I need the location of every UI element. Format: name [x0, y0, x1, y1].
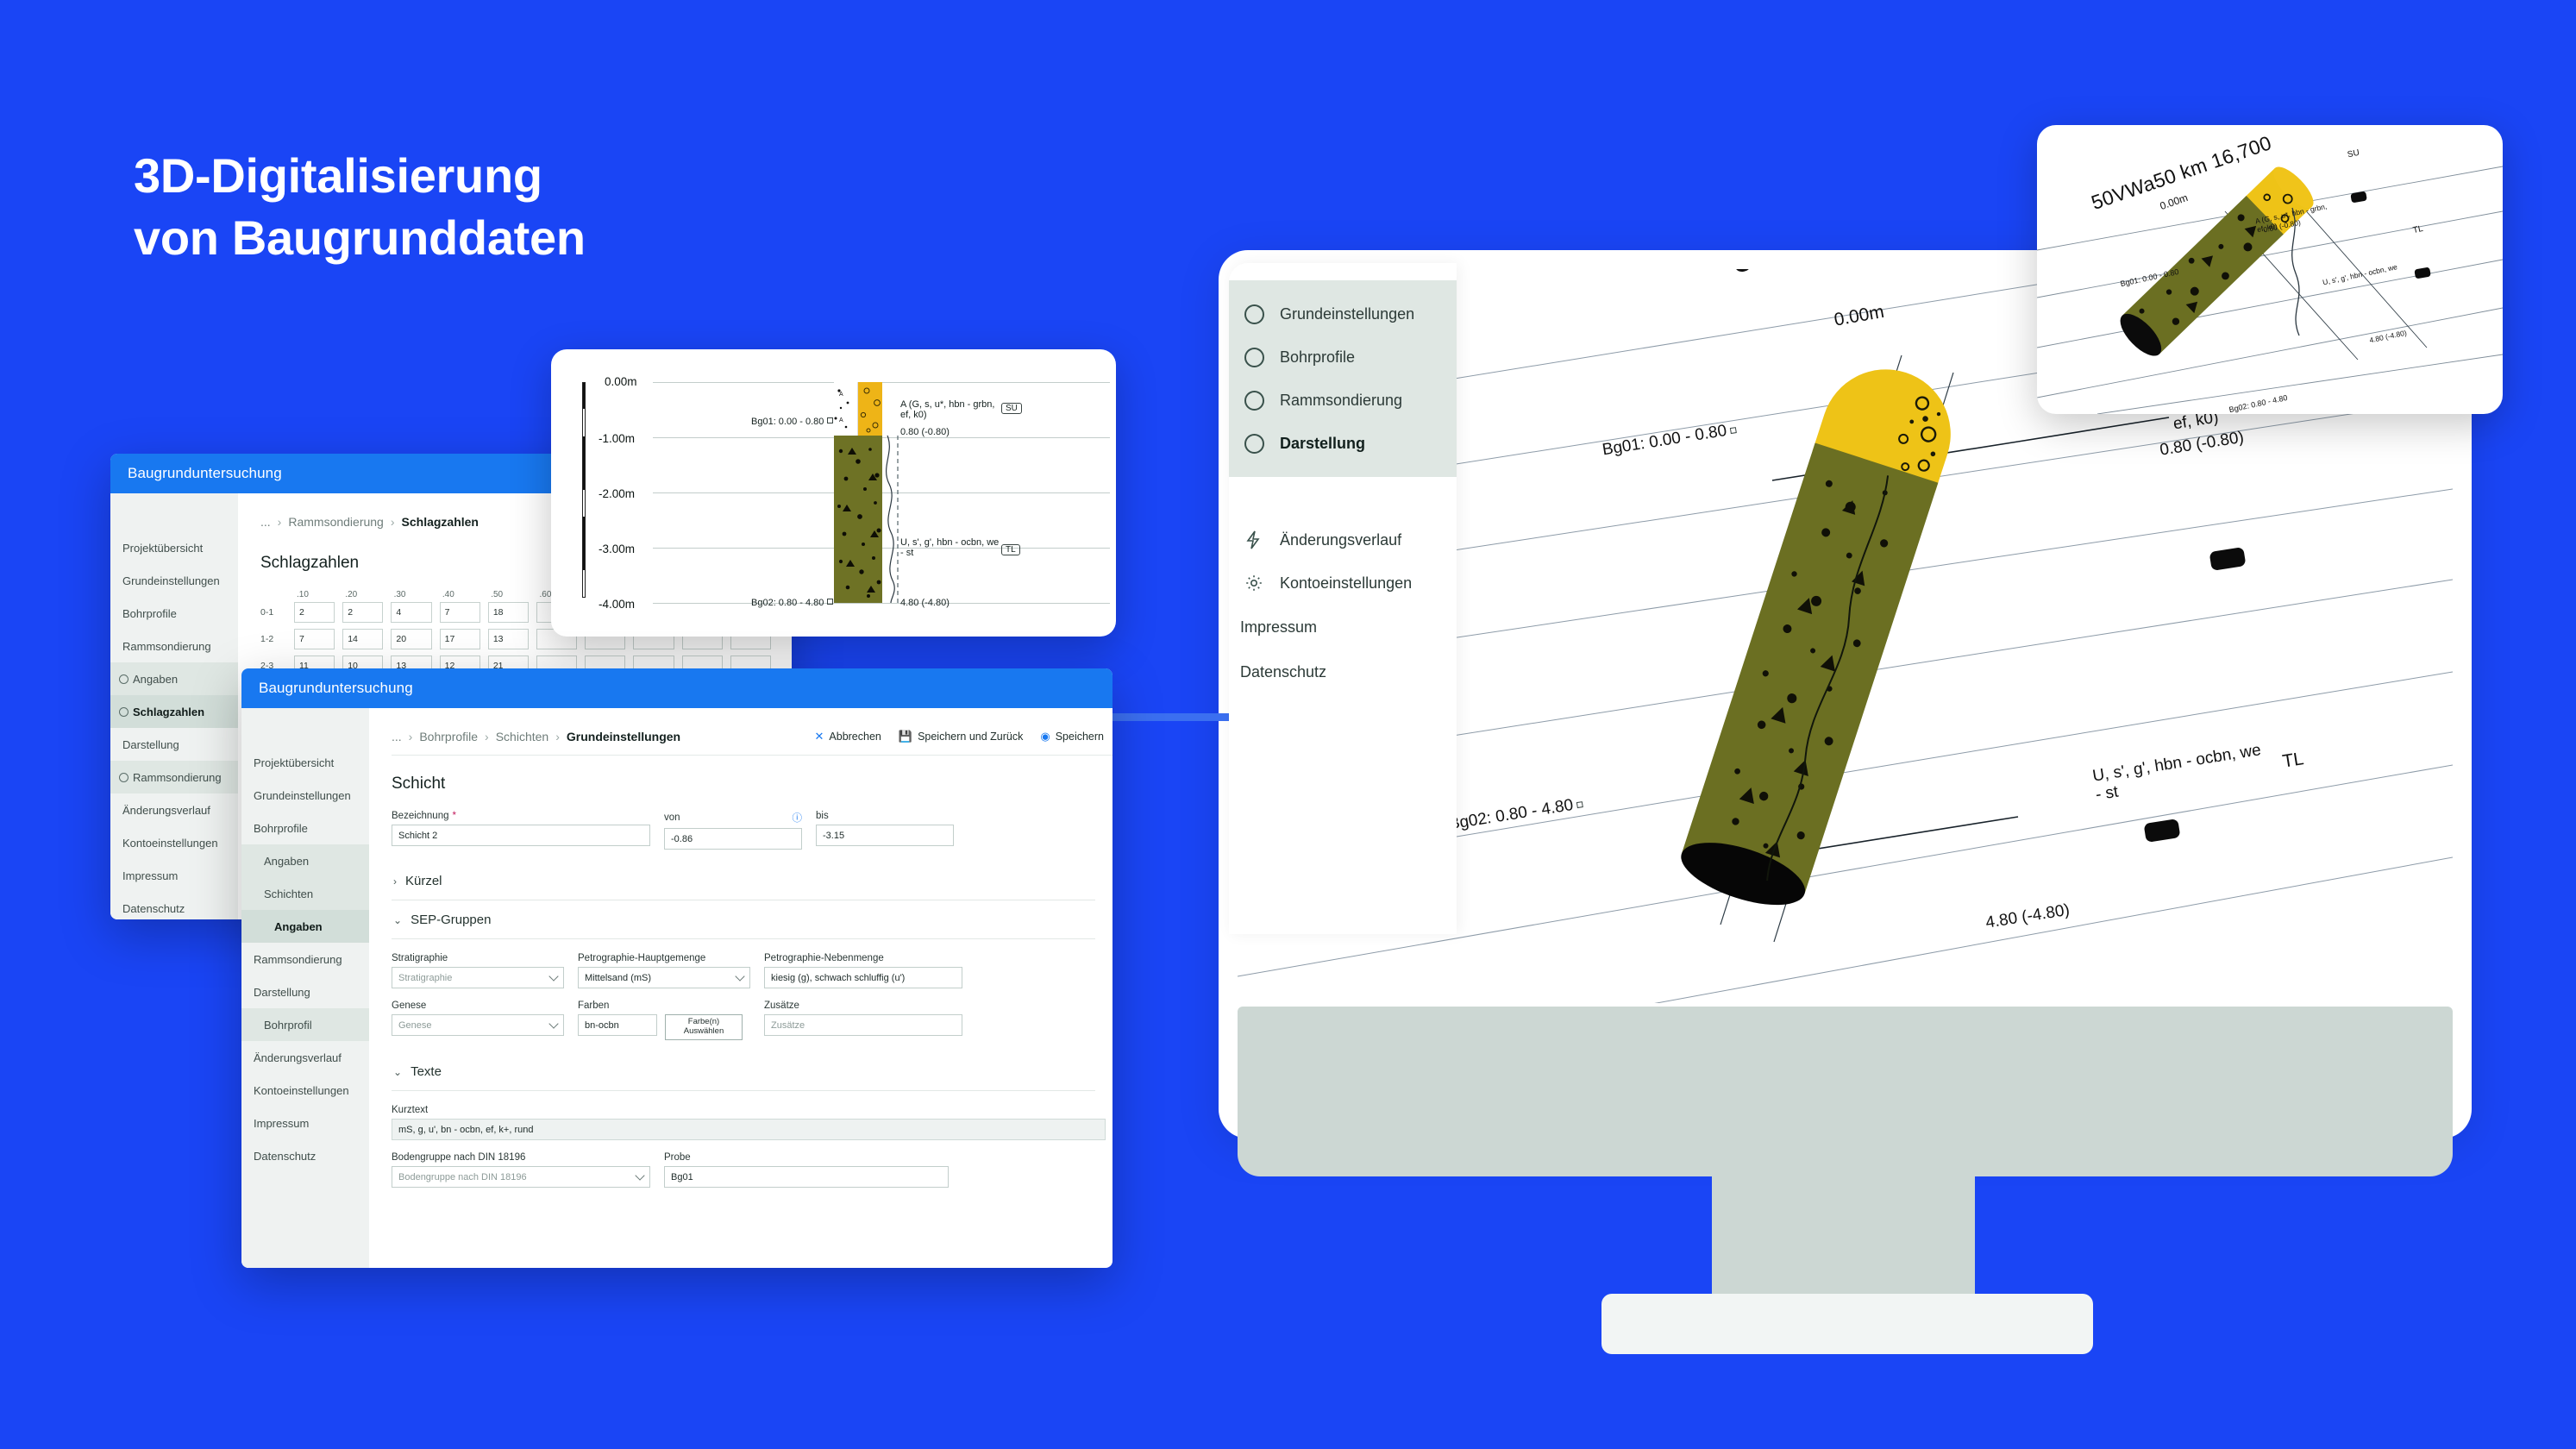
sidebar-item-projektuebersicht[interactable]: Projektübersicht [241, 746, 369, 779]
group-kuerzel[interactable]: › Kürzel [392, 862, 1095, 900]
label-farben: Farben [578, 1000, 750, 1011]
sidebar-item-datenschutz[interactable]: Datenschutz [110, 892, 238, 919]
log-layer-1-code: SU [1001, 403, 1022, 414]
chevron-down-icon: ⌄ [393, 1066, 402, 1078]
gear-icon [1240, 569, 1268, 597]
depth-ruler [582, 382, 586, 598]
col-header: .30 [391, 590, 431, 599]
group-kuerzel-label: Kürzel [405, 874, 442, 888]
menu-item-label: Kontoeinstellungen [1280, 574, 1412, 593]
borehole-log-card[interactable]: 0.00m -1.00m -2.00m -3.00m -4.00m -5.00m… [551, 349, 1116, 637]
required-marker: * [453, 811, 456, 821]
strat-column-fill-lower [834, 436, 882, 603]
toolbar-actions: ✕ Abbrechen 💾 Speichern und Zurück ◉ Spe… [815, 730, 1105, 743]
cell-input[interactable]: 7 [440, 602, 480, 623]
log-layer-2-depth: 4.80 (-4.80) [900, 598, 950, 608]
divider [392, 755, 1113, 756]
depth-label: -3.00m [599, 543, 635, 555]
stratigraphie-select[interactable]: Stratigraphie [392, 967, 564, 988]
sidebar-item-projektuebersicht[interactable]: Projektübersicht [110, 531, 238, 564]
sidebar-item-aenderungsverlauf[interactable]: Änderungsverlauf [110, 793, 238, 826]
bullet-icon [119, 674, 128, 684]
group-sep-label: SEP-Gruppen [411, 913, 491, 927]
cell-input[interactable]: 20 [391, 629, 431, 649]
window-titlebar: Baugrunduntersuchung [241, 668, 1113, 708]
breadcrumb-sep: › [409, 730, 413, 743]
col-header: .20 [342, 590, 382, 599]
cell-input[interactable]: 4 [391, 602, 431, 623]
col-header: .50 [487, 590, 528, 599]
bezeichnung-input[interactable]: Schicht 2 [392, 825, 650, 846]
cell-input[interactable]: 13 [488, 629, 529, 649]
sidebar-item-darstellung-rammsondierung[interactable]: Rammsondierung [110, 761, 238, 793]
log-layer-2-text: U, s', g', hbn - ocbn, we - st [900, 537, 1064, 558]
sidebar-item-angaben[interactable]: Angaben [241, 844, 369, 877]
ruler-segment [583, 517, 585, 570]
sidebar-item-schichten[interactable]: Schichten [241, 877, 369, 910]
circle-icon [1240, 343, 1268, 371]
cell-input[interactable]: 14 [342, 629, 383, 649]
cell-input[interactable]: 7 [294, 629, 335, 649]
sidebar-item-impressum[interactable]: Impressum [110, 859, 238, 892]
scene-layer-2-code: TL [2281, 749, 2305, 773]
log-layer-1-text: A (G, s, u*, hbn - grbn, ef, k0) [900, 399, 1056, 420]
group-texte[interactable]: ⌄ Texte [392, 1052, 1095, 1091]
breadcrumb-bohrprofile[interactable]: Bohrprofile [419, 730, 478, 743]
log-layer-1-depth: 0.80 (-0.80) [900, 427, 950, 437]
circle-icon [1240, 300, 1268, 328]
grid-line [653, 603, 1110, 604]
bodengruppe-select[interactable]: Bodengruppe nach DIN 18196 [392, 1166, 650, 1188]
depth-label: 0.00m [605, 375, 637, 388]
sidebar-item-darstellung[interactable]: Darstellung [241, 975, 369, 1008]
sidebar-item-kontoeinstellungen[interactable]: Kontoeinstellungen [110, 826, 238, 859]
breadcrumb-front: ... › Bohrprofile › Schichten › Grundein… [392, 724, 1113, 750]
ruler-segment [583, 383, 585, 409]
cancel-button[interactable]: ✕ Abbrechen [815, 730, 881, 743]
cell-input[interactable]: 2 [342, 602, 383, 623]
log-sample-bg01: Bg01: 0.00 - 0.80 [751, 417, 833, 427]
petrographie-hauptgemenge-select[interactable]: Mittelsand (mS) [578, 967, 750, 988]
breadcrumb-sep: › [278, 515, 282, 529]
menu-item-label: Bohrprofile [1280, 348, 1355, 367]
menu-link-impressum[interactable]: Impressum [1229, 605, 1457, 649]
col-header: .10 [293, 590, 334, 599]
group-texte-label: Texte [411, 1064, 442, 1079]
breadcrumb-sep: › [391, 515, 395, 529]
depth-label: -1.00m [599, 432, 635, 445]
label-bis: bis [816, 811, 954, 821]
close-icon: ✕ [815, 730, 824, 743]
circle-icon [1240, 386, 1268, 414]
cell-input[interactable]: 2 [294, 602, 335, 623]
eye-icon: ◉ [1040, 730, 1050, 743]
label-stratigraphie: Stratigraphie [392, 953, 564, 963]
breadcrumb-current: Grundeinstellungen [567, 730, 680, 743]
page-title: 3D-Digitalisierung von Baugrunddaten [134, 145, 586, 268]
genese-select[interactable]: Genese [392, 1014, 564, 1036]
monitor-base [1601, 1294, 2093, 1354]
log-sample-bg02: Bg02: 0.80 - 4.80 [751, 598, 833, 608]
breadcrumb-ellipsis[interactable]: ... [392, 730, 402, 743]
field-kurztext: Kurztext mS, g, u', bn - ocbn, ef, k+, r… [392, 1105, 1113, 1140]
section-title-schicht: Schicht [392, 775, 1113, 793]
sidebar-item-bohrprofil[interactable]: Bohrprofil [241, 1008, 369, 1041]
monitor-neck [1712, 1140, 1975, 1304]
von-input[interactable]: -0.86 [664, 828, 802, 850]
ruler-segment [583, 436, 585, 490]
label-zusaetze: Zusätze [764, 1000, 962, 1011]
menu-item-rammsondierung[interactable]: Rammsondierung [1229, 379, 1457, 422]
depth-label: -2.00m [599, 487, 635, 500]
field-row-bodengruppe: Bodengruppe nach DIN 18196 Bodengruppe n… [392, 1152, 1113, 1188]
col-header: .40 [439, 590, 479, 599]
label-bodengruppe: Bodengruppe nach DIN 18196 [392, 1152, 650, 1163]
bullet-icon [119, 773, 128, 782]
label-probe: Probe [664, 1152, 949, 1163]
chevron-down-icon: ⌄ [393, 914, 402, 926]
depth-label: -4.00m [599, 598, 635, 611]
petrographie-nebenmenge-input[interactable]: kiesig (g), schwach schluffig (u') [764, 967, 962, 988]
sidebar-item-darstellung[interactable]: Darstellung [110, 728, 238, 761]
menu-item-darstellung[interactable]: Darstellung [1229, 422, 1457, 465]
settings-menu-panel: Grundeinstellungen Bohrprofile Rammsondi… [1229, 263, 1457, 934]
sidebar-item-aenderungsverlauf[interactable]: Änderungsverlauf [241, 1041, 369, 1074]
sidebar-item-bohrprofile[interactable]: Bohrprofile [110, 597, 238, 630]
strat-column-fill-upper [858, 382, 882, 436]
menu-link-datenschutz[interactable]: Datenschutz [1229, 649, 1457, 694]
log-layer-2-code: TL [1001, 544, 1020, 555]
settings-menu-group: Grundeinstellungen Bohrprofile Rammsondi… [1229, 280, 1457, 477]
strat-column-fill-a [834, 382, 858, 436]
sidebar-item-kontoeinstellungen[interactable]: Kontoeinstellungen [241, 1074, 369, 1107]
log-sample-bg01-label: Bg01: 0.00 - 0.80 [751, 417, 824, 427]
sidebar-item-rammsondierung[interactable]: Rammsondierung [241, 943, 369, 975]
menu-item-aenderungsverlauf[interactable]: Änderungsverlauf [1229, 518, 1457, 561]
sidebar-item-schichten-angaben[interactable]: Angaben [241, 910, 369, 943]
breadcrumb-sep: › [555, 730, 560, 743]
save-icon: 💾 [899, 730, 912, 743]
menu-item-label: Änderungsverlauf [1280, 531, 1401, 549]
breadcrumb-schichten[interactable]: Schichten [496, 730, 548, 743]
log-sample-bg02-label: Bg02: 0.80 - 4.80 [751, 598, 824, 608]
menu-item-label: Rammsondierung [1280, 392, 1402, 410]
cell-input[interactable]: 18 [488, 602, 529, 623]
label-petrographie-hauptgemenge: Petrographie-Hauptgemenge [578, 953, 750, 963]
circle-icon [1240, 430, 1268, 457]
breadcrumb-current: Schlagzahlen [402, 515, 479, 529]
menu-item-grundeinstellungen[interactable]: Grundeinstellungen [1229, 292, 1457, 336]
field-row-sep-1: Stratigraphie Stratigraphie Petrographie… [392, 953, 1113, 988]
menu-item-kontoeinstellungen[interactable]: Kontoeinstellungen [1229, 561, 1457, 605]
breadcrumb-sep: › [485, 730, 489, 743]
bullet-icon [119, 707, 128, 717]
row-label: 1-2 [260, 634, 286, 644]
sidebar-item-impressum[interactable]: Impressum [241, 1107, 369, 1139]
sidebar-item-datenschutz[interactable]: Datenschutz [241, 1139, 369, 1172]
field-row-bezeichnung: Bezeichnung * Schicht 2 von ⓘ -0.86 bis [392, 811, 1113, 850]
group-sep-gruppen[interactable]: ⌄ SEP-Gruppen [392, 900, 1095, 939]
sidebar-item-grundeinstellungen[interactable]: Grundeinstellungen [241, 779, 369, 812]
save-and-back-button[interactable]: 💾 Speichern und Zurück [899, 730, 1023, 743]
sample-box-icon [827, 599, 833, 605]
label-bezeichnung: Bezeichnung * [392, 811, 650, 821]
inset-preview-card[interactable]: 50VWa50 km 16,700 0.00m Bg01: 0.00 - 0.8… [2037, 125, 2503, 414]
save-button[interactable]: ◉ Speichern [1040, 730, 1104, 743]
label-genese: Genese [392, 1000, 564, 1011]
menu-item-label: Grundeinstellungen [1280, 305, 1414, 323]
farben-input[interactable]: bn-ocbn [578, 1014, 657, 1036]
sidebar-nav-front[interactable]: Projektübersicht Grundeinstellungen Bohr… [241, 708, 369, 1268]
label-kurztext: Kurztext [392, 1105, 1113, 1115]
menu-item-label: Darstellung [1280, 435, 1365, 453]
field-row-sep-2: Genese Genese Farben bn-ocbn Farbe(n) Au… [392, 1000, 1113, 1040]
chevron-right-icon: › [393, 875, 397, 888]
sidebar-item-angaben[interactable]: Angaben [110, 662, 238, 695]
label-petrographie-nebenmenge: Petrographie-Nebenmenge [764, 953, 962, 963]
sidebar-item-schlagzahlen[interactable]: Schlagzahlen [110, 695, 238, 728]
inset-scene [2037, 125, 2503, 414]
menu-item-bohrprofile[interactable]: Bohrprofile [1229, 336, 1457, 379]
window-schicht-form[interactable]: Baugrunduntersuchung Projektübersicht Gr… [241, 668, 1113, 1268]
cell-input[interactable]: 17 [440, 629, 480, 649]
probe-input[interactable]: Bg01 [664, 1166, 949, 1188]
sample-box-icon [1730, 427, 1737, 434]
farbe-auswaehlen-button[interactable]: Farbe(n) Auswählen [665, 1014, 743, 1040]
info-icon[interactable]: ⓘ [793, 811, 803, 825]
kurztext-input[interactable]: mS, g, u', bn - ocbn, ef, k+, rund [392, 1119, 1106, 1140]
sample-box-icon [1576, 801, 1583, 808]
sample-box-icon [827, 417, 833, 423]
zusaetze-input[interactable]: Zusätze [764, 1014, 962, 1036]
sidebar-nav-back[interactable]: Projektübersicht Grundeinstellungen Bohr… [110, 493, 238, 919]
bis-input[interactable]: -3.15 [816, 825, 954, 846]
breadcrumb-parent[interactable]: Rammsondierung [288, 515, 384, 529]
lightning-icon [1240, 526, 1268, 554]
row-label: 0-1 [260, 607, 286, 618]
sidebar-item-bohrprofile[interactable]: Bohrprofile [241, 812, 369, 844]
sidebar-item-grundeinstellungen[interactable]: Grundeinstellungen [110, 564, 238, 597]
sidebar-item-rammsondierung[interactable]: Rammsondierung [110, 630, 238, 662]
label-von: von ⓘ [664, 811, 802, 825]
breadcrumb-ellipsis[interactable]: ... [260, 515, 271, 529]
